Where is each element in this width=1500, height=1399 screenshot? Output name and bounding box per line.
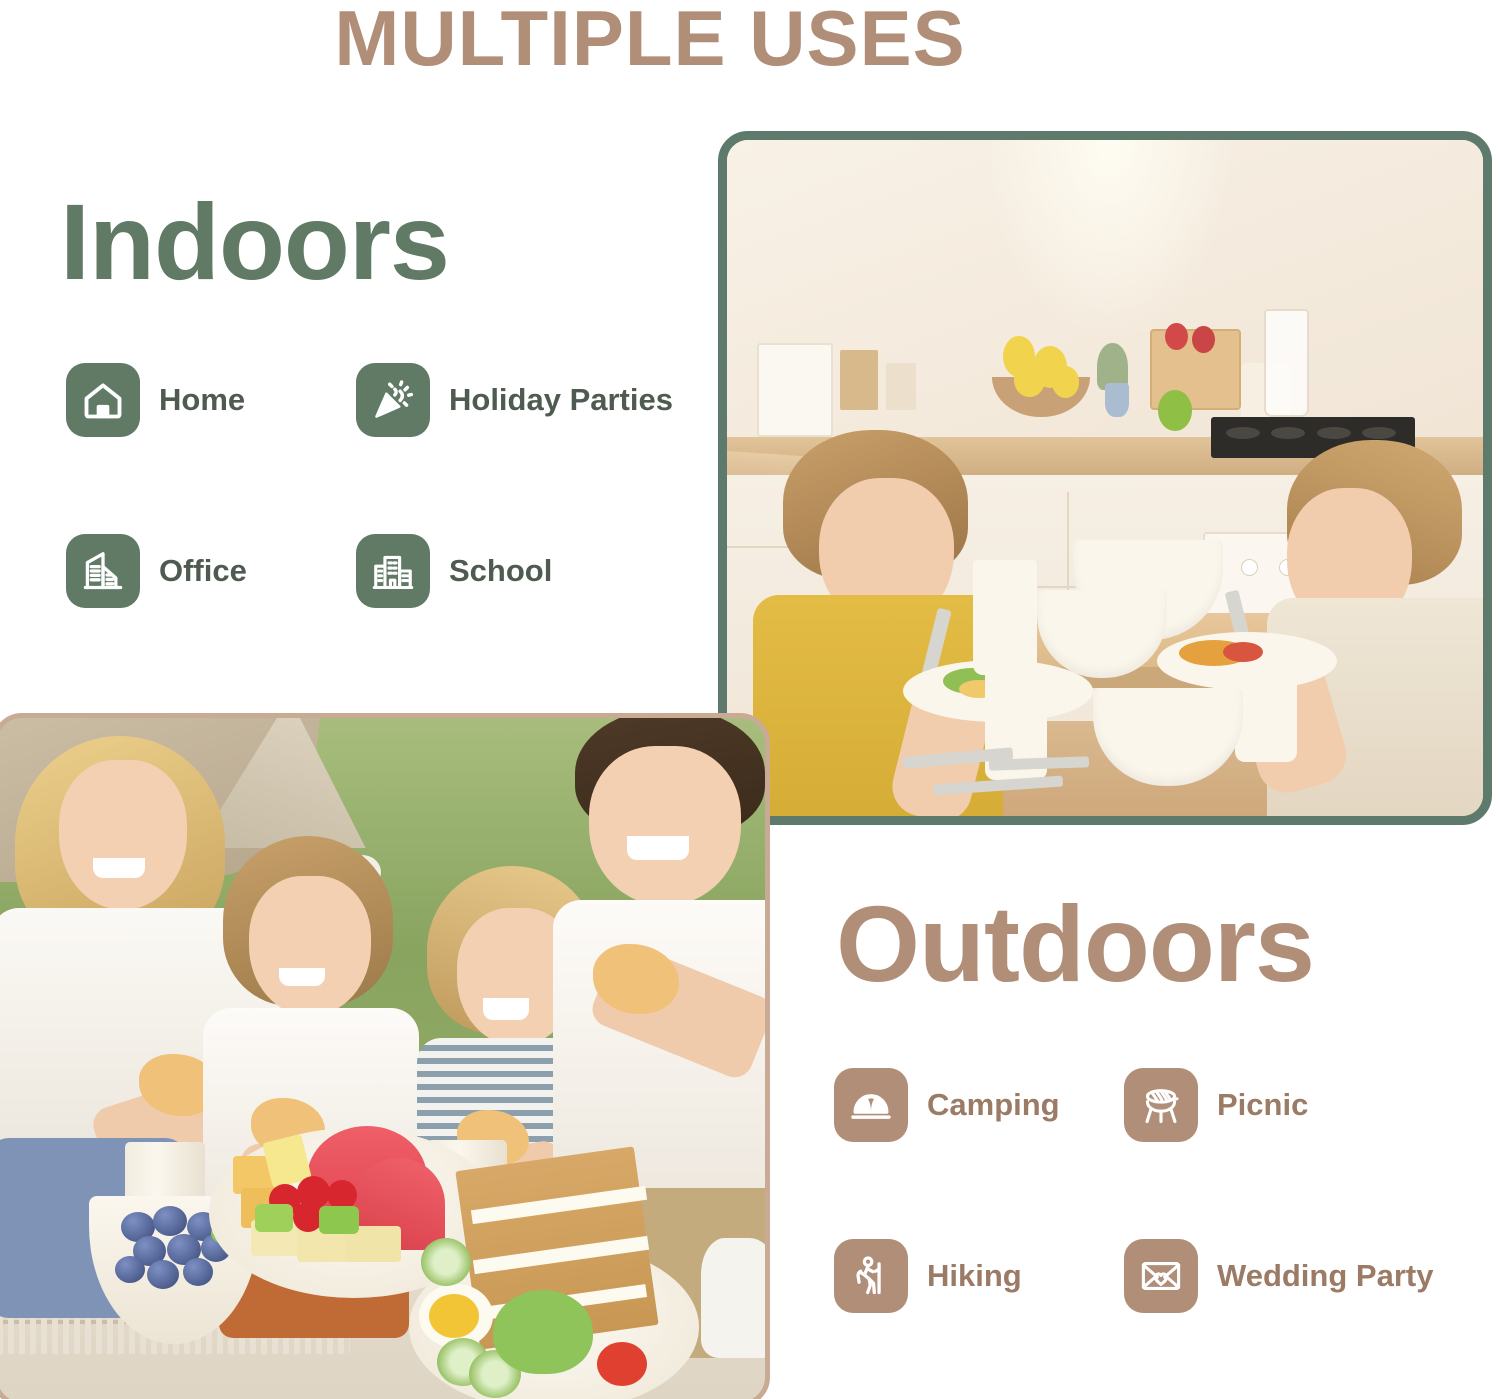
shoe <box>701 1238 765 1358</box>
feature-label: Picnic <box>1217 1087 1308 1123</box>
feature-label: Camping <box>927 1087 1060 1123</box>
drinking-cup <box>973 560 1037 675</box>
hiker-icon <box>834 1239 908 1313</box>
tent-icon <box>834 1068 908 1142</box>
feature-list-indoors: Home Holiday Parties <box>66 363 686 608</box>
feature-list-outdoors: Camping Picnic <box>834 1068 1454 1313</box>
feature-label: Home <box>159 382 245 418</box>
feature-camping[interactable]: Camping <box>834 1068 1124 1142</box>
feature-wedding-party[interactable]: Wedding Party <box>1124 1239 1454 1313</box>
feature-school[interactable]: School <box>356 534 686 608</box>
feature-home[interactable]: Home <box>66 363 356 437</box>
feature-picnic[interactable]: Picnic <box>1124 1068 1454 1142</box>
feature-office[interactable]: Office <box>66 534 356 608</box>
school-building-icon <box>356 534 430 608</box>
feature-label: School <box>449 553 552 589</box>
feature-label: Office <box>159 553 247 589</box>
infographic-page: MULTIPLE USES <box>0 0 1500 1399</box>
bbq-grill-icon <box>1124 1068 1198 1142</box>
party-popper-icon <box>356 363 430 437</box>
indoor-kitchen-photo <box>718 131 1492 825</box>
page-title: MULTIPLE USES <box>0 0 1300 84</box>
section-heading-indoors: Indoors <box>60 188 449 296</box>
office-building-icon <box>66 534 140 608</box>
outdoor-picnic-photo <box>0 713 770 1399</box>
home-icon <box>66 363 140 437</box>
feature-label: Wedding Party <box>1217 1258 1433 1294</box>
feature-hiking[interactable]: Hiking <box>834 1239 1124 1313</box>
feature-holiday-parties[interactable]: Holiday Parties <box>356 363 686 437</box>
section-heading-outdoors: Outdoors <box>836 890 1314 998</box>
envelope-heart-icon <box>1124 1239 1198 1313</box>
feature-label: Holiday Parties <box>449 382 673 418</box>
feature-label: Hiking <box>927 1258 1022 1294</box>
